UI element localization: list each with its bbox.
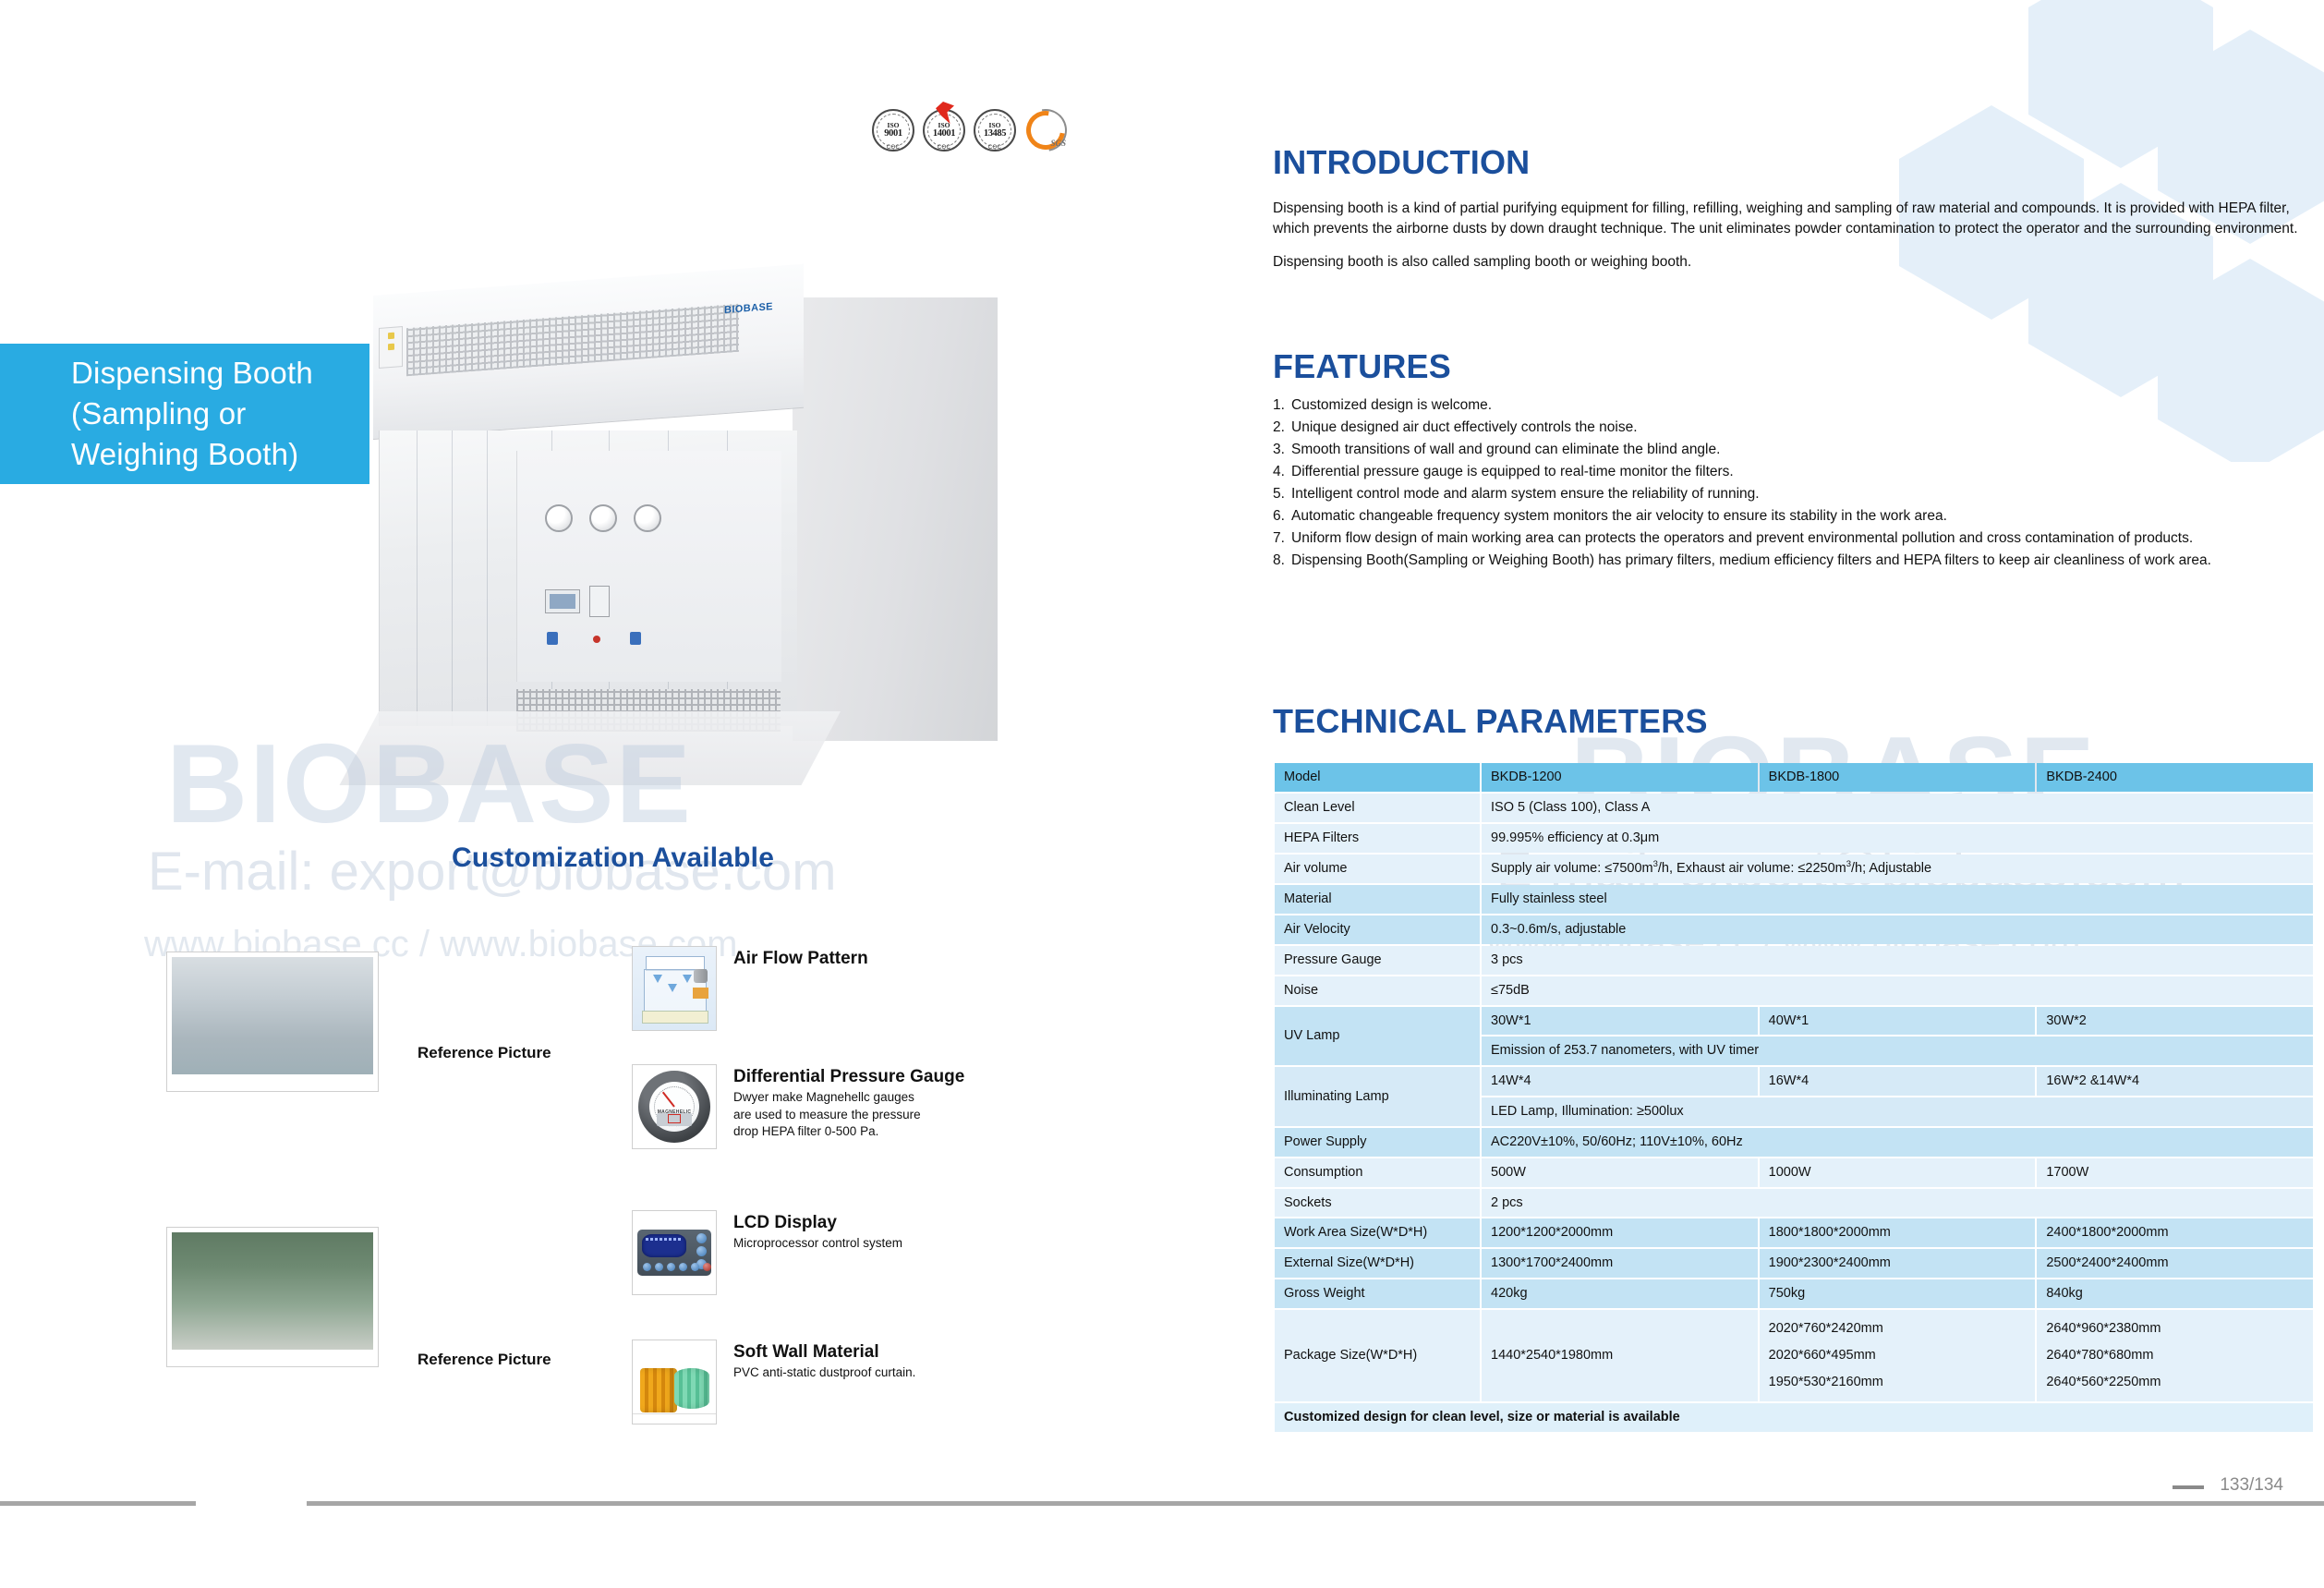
table-row: MaterialFully stainless steel [1275,885,2313,914]
table-row: Air volumeSupply air volume: ≤7500m3/h, … [1275,855,2313,884]
pressure-gauge-icon: MAGNEHELIC [632,1064,717,1149]
table-footnote-row: Customized design for clean level, size … [1275,1403,2313,1432]
feature-item: 6.Automatic changeable frequency system … [1273,506,2315,527]
callout-title-air-flow: Air Flow Pattern [733,948,868,969]
footer-rule [0,1501,2324,1506]
callout-sub-soft-wall: PVC anti-static dustproof curtain. [733,1364,915,1381]
callout-differential-pressure-gauge: MAGNEHELIC Differential Pressure Gauge D… [632,1064,964,1149]
technical-parameters-heading: TECHNICAL PARAMETERS [1273,702,2315,741]
introduction-heading: INTRODUCTION [1273,143,2315,182]
reference-photo-2 [166,1227,379,1367]
table-row: Air Velocity0.3~0.6m/s, adjustable [1275,915,2313,944]
features-heading: FEATURES [1273,347,2315,386]
table-footnote: Customized design for clean level, size … [1275,1403,2313,1432]
table-row: Pressure Gauge3 pcs [1275,946,2313,975]
callout-air-flow-pattern: Air Flow Pattern [632,946,868,1031]
feature-item: 1.Customized design is welcome. [1273,395,2315,416]
technical-parameters-table: Model BKDB-1200 BKDB-1800 BKDB-2400 Clea… [1273,761,2315,1434]
introduction-paragraph-2: Dispensing booth is also called sampling… [1273,252,2315,273]
hero-product-area: BIOBASE Dispensing Booth [0,277,1025,794]
sgs-badge: SGS [1024,109,1067,152]
table-header-cell: BKDB-1800 [1760,763,2036,792]
table-row: Clean LevelISO 5 (Class 100), Class A [1275,794,2313,822]
iso-9001-badge: ISO9001 CQC [872,109,914,152]
callout-sub-lcd: Microprocessor control system [733,1235,902,1252]
callout-sub-pressure-gauge: Dwyer make Magnehellc gauges are used to… [733,1089,932,1140]
air-flow-diagram-icon [632,946,717,1031]
table-row: Work Area Size(W*D*H) 1200*1200*2000mm 1… [1275,1218,2313,1247]
features-list: 1.Customized design is welcome. 2.Unique… [1273,395,2315,571]
table-row: HEPA Filters99.995% efficiency at 0.3μm [1275,824,2313,853]
reference-picture-block-2 [166,1227,379,1367]
introduction-paragraph-1: Dispensing booth is a kind of partial pu… [1273,199,2315,239]
reference-picture-label-1: Reference Picture [418,1044,551,1062]
table-row: Gross Weight 420kg 750kg 840kg [1275,1279,2313,1308]
callout-title-soft-wall: Soft Wall Material [733,1341,915,1363]
reference-picture-block-1 [166,952,379,1092]
callout-title-lcd: LCD Display [733,1212,902,1233]
table-header-cell: BKDB-1200 [1482,763,1758,792]
feature-item: 2.Unique designed air duct effectively c… [1273,418,2315,438]
product-title-line-3: Weighing Booth) [71,434,313,475]
customization-available-label: Customization Available [452,842,774,874]
left-product-column: BIOBASE Dispensing Booth [0,0,1265,1588]
table-header-cell: BKDB-2400 [2037,763,2313,792]
table-row: Noise≤75dB [1275,976,2313,1005]
certification-badges: ISO9001 CQC ISO14001 CQC ISO13485 CQC SG… [872,109,1067,152]
table-header-cell: Model [1275,763,1480,792]
iso-14001-badge: ISO14001 CQC [923,109,965,152]
page-number-dash [2173,1485,2204,1489]
table-row: UV Lamp 30W*1 40W*1 30W*2 [1275,1007,2313,1036]
reference-picture-label-2: Reference Picture [418,1351,551,1369]
callout-lcd-display: LCD Display Microprocessor control syste… [632,1210,902,1295]
table-row: Package Size(W*D*H) 1440*2540*1980mm 202… [1275,1310,2313,1401]
iso-13485-badge: ISO13485 CQC [974,109,1016,152]
table-row: Power SupplyAC220V±10%, 50/60Hz; 110V±10… [1275,1128,2313,1157]
feature-item: 4.Differential pressure gauge is equippe… [1273,462,2315,482]
lcd-panel-icon [632,1210,717,1295]
table-row: Sockets2 pcs [1275,1189,2313,1218]
product-title-line-1: Dispensing Booth [71,353,313,394]
callout-title-pressure-gauge: Differential Pressure Gauge [733,1066,964,1087]
pvc-curtain-icon [632,1339,717,1424]
reference-photo-1 [166,952,379,1092]
dispensing-booth-photo: BIOBASE [351,277,998,794]
product-title-banner: Dispensing Booth (Sampling or Weighing B… [0,344,369,484]
callout-soft-wall-material: Soft Wall Material PVC anti-static dustp… [632,1339,915,1424]
product-title-line-2: (Sampling or [71,394,313,434]
air-volume-value: Supply air volume: ≤7500m3/h, Exhaust ai… [1482,855,2313,884]
feature-item: 8.Dispensing Booth(Sampling or Weighing … [1273,551,2315,571]
table-row: Consumption 500W 1000W 1700W [1275,1158,2313,1187]
table-row: Illuminating Lamp 14W*4 16W*4 16W*2 &14W… [1275,1067,2313,1096]
feature-item: 7.Uniform flow design of main working ar… [1273,528,2315,549]
table-row: External Size(W*D*H) 1300*1700*2400mm 19… [1275,1249,2313,1278]
feature-item: 5.Intelligent control mode and alarm sys… [1273,484,2315,504]
feature-item: 3.Smooth transitions of wall and ground … [1273,440,2315,460]
table-header-row: Model BKDB-1200 BKDB-1800 BKDB-2400 [1275,763,2313,792]
page-number: 133/134 [2220,1475,2283,1496]
right-content-column: INTRODUCTION Dispensing booth is a kind … [1273,0,2324,1588]
